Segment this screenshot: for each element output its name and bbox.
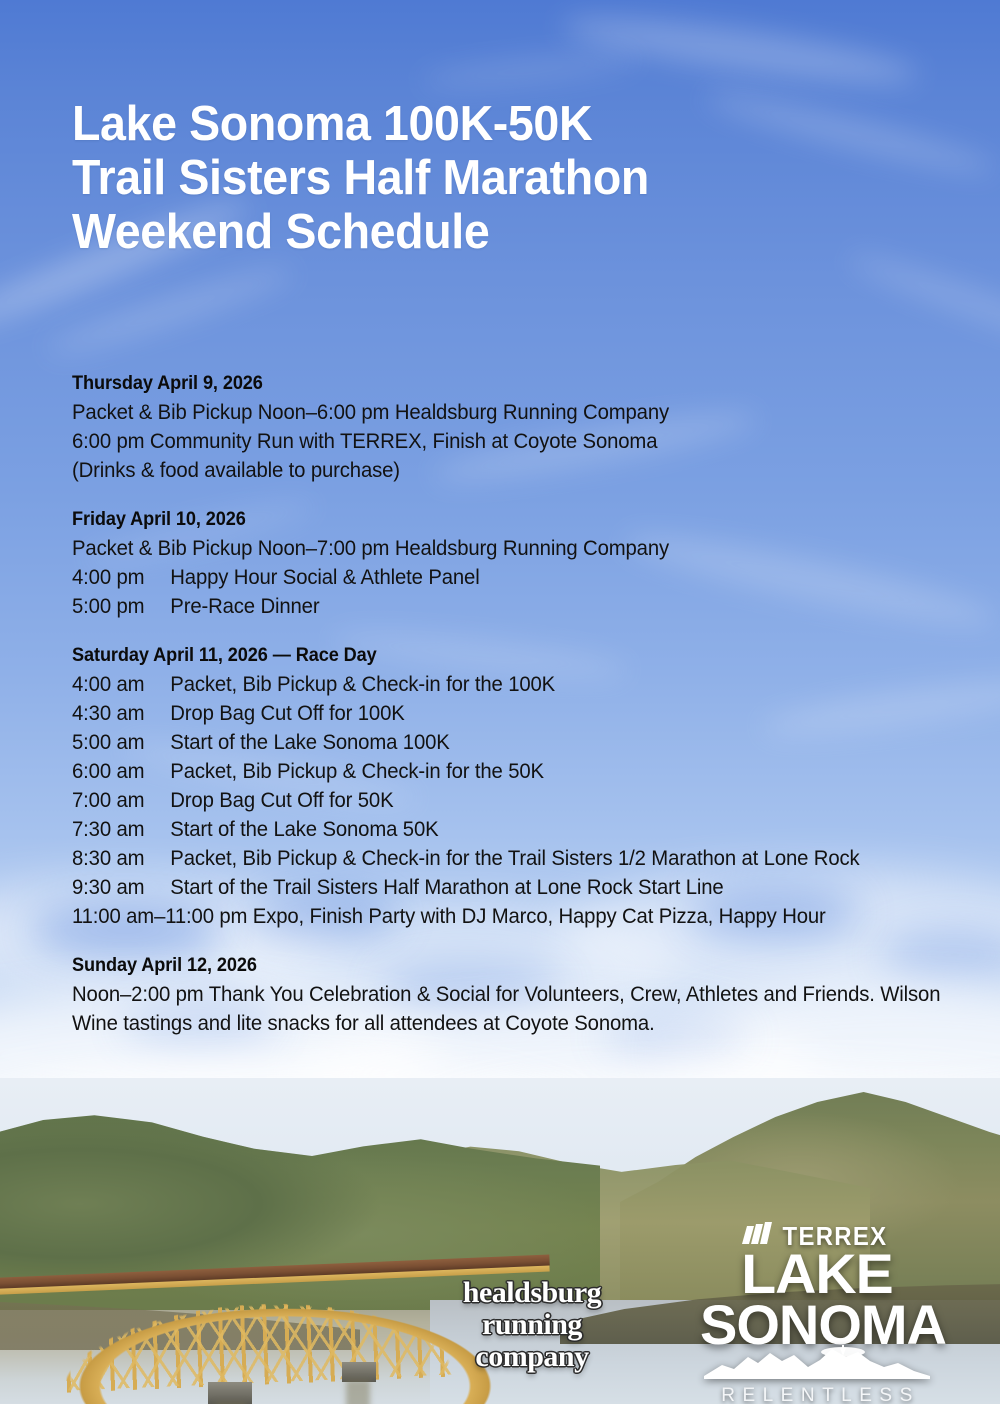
schedule-line-time: 4:00 am <box>72 670 170 699</box>
schedule-line-desc: Start of the Lake Sonoma 100K <box>170 728 449 757</box>
schedule-line-time: 6:00 am <box>72 757 170 786</box>
schedule-line-desc: Pre-Race Dinner <box>170 592 319 621</box>
schedule-line: 9:30 amStart of the Trail Sisters Half M… <box>72 873 951 902</box>
schedule-line-time: 5:00 am <box>72 728 170 757</box>
schedule-line-desc: Noon–2:00 pm Thank You Celebration & Soc… <box>72 980 951 1038</box>
relentless-tagline: RELENTLESS <box>700 1385 934 1404</box>
hrc-logo-line2: running <box>448 1309 616 1341</box>
schedule-line-desc: Drop Bag Cut Off for 100K <box>170 699 404 728</box>
day-heading: Thursday April 9, 2026 <box>72 371 937 396</box>
day-heading: Friday April 10, 2026 <box>72 507 937 532</box>
schedule-line: 11:00 am–11:00 pm Expo, Finish Party wit… <box>72 902 951 931</box>
schedule-line-desc: 11:00 am–11:00 pm Expo, Finish Party wit… <box>72 902 826 931</box>
schedule-line-time: 4:00 pm <box>72 563 170 592</box>
hrc-logo-line3: company <box>448 1341 616 1373</box>
schedule-line-time: 7:30 am <box>72 815 170 844</box>
lake-wordmark: LAKE <box>698 1250 937 1298</box>
schedule-day-friday: Friday April 10, 2026 Packet & Bib Picku… <box>72 507 1000 621</box>
mountain-silhouette-icon <box>700 1343 934 1384</box>
schedule-line-desc: 6:00 pm Community Run with TERREX, Finis… <box>72 427 657 456</box>
sonoma-wordmark: SONOMA <box>700 1301 934 1349</box>
schedule-line: 6:00 amPacket, Bib Pickup & Check-in for… <box>72 757 951 786</box>
schedule-day-thursday: Thursday April 9, 2026 Packet & Bib Pick… <box>72 371 1000 485</box>
schedule-line: 6:00 pm Community Run with TERREX, Finis… <box>72 427 951 456</box>
event-poster: Lake Sonoma 100K-50K Trail Sisters Half … <box>0 0 1000 1404</box>
schedule-line-desc: Start of the Lake Sonoma 50K <box>170 815 438 844</box>
schedule-line: Packet & Bib Pickup Noon–7:00 pm Healdsb… <box>72 534 951 563</box>
schedule-line: 4:00 pmHappy Hour Social & Athlete Panel <box>72 563 951 592</box>
schedule-line-desc: Packet, Bib Pickup & Check-in for the 10… <box>170 670 555 699</box>
weekend-schedule: Thursday April 9, 2026 Packet & Bib Pick… <box>72 371 1000 1038</box>
schedule-line: 4:00 amPacket, Bib Pickup & Check-in for… <box>72 670 951 699</box>
healdsburg-running-company-logo: healdsburg running company <box>448 1277 616 1373</box>
schedule-line: 8:30 amPacket, Bib Pickup & Check-in for… <box>72 844 951 873</box>
schedule-line-desc: Drop Bag Cut Off for 50K <box>170 786 393 815</box>
day-heading: Saturday April 11, 2026 — Race Day <box>72 643 937 668</box>
schedule-line: 7:30 amStart of the Lake Sonoma 50K <box>72 815 951 844</box>
schedule-line-desc: Packet & Bib Pickup Noon–6:00 pm Healdsb… <box>72 398 669 427</box>
hrc-logo-line1: healdsburg <box>448 1277 616 1309</box>
schedule-day-sunday: Sunday April 12, 2026 Noon–2:00 pm Thank… <box>72 953 1000 1038</box>
schedule-line-desc: Packet, Bib Pickup & Check-in for the 50… <box>170 757 544 786</box>
schedule-line-time: 7:00 am <box>72 786 170 815</box>
schedule-line-desc: Packet, Bib Pickup & Check-in for the Tr… <box>170 844 859 873</box>
schedule-line: (Drinks & food available to purchase) <box>72 456 951 485</box>
schedule-line: Packet & Bib Pickup Noon–6:00 pm Healdsb… <box>72 398 951 427</box>
schedule-line: 5:00 amStart of the Lake Sonoma 100K <box>72 728 951 757</box>
schedule-line-desc: (Drinks & food available to purchase) <box>72 456 400 485</box>
schedule-day-saturday: Saturday April 11, 2026 — Race Day 4:00 … <box>72 643 1000 931</box>
schedule-line-time: 8:30 am <box>72 844 170 873</box>
schedule-line: 5:00 pmPre-Race Dinner <box>72 592 951 621</box>
schedule-line-time: 4:30 am <box>72 699 170 728</box>
day-heading: Sunday April 12, 2026 <box>72 953 937 978</box>
schedule-line: 7:00 amDrop Bag Cut Off for 50K <box>72 786 951 815</box>
schedule-line: Noon–2:00 pm Thank You Celebration & Soc… <box>72 980 951 1038</box>
schedule-line-time: 5:00 pm <box>72 592 170 621</box>
schedule-line-desc: Happy Hour Social & Athlete Panel <box>170 563 479 592</box>
schedule-line-desc: Start of the Trail Sisters Half Marathon… <box>170 873 723 902</box>
page-title: Lake Sonoma 100K-50K Trail Sisters Half … <box>72 97 649 259</box>
schedule-line-desc: Packet & Bib Pickup Noon–7:00 pm Healdsb… <box>72 534 669 563</box>
schedule-line-time: 9:30 am <box>72 873 170 902</box>
terrex-lake-sonoma-logo: TERREX LAKE SONOMA RELENTLESS <box>700 1222 934 1404</box>
schedule-line: 4:30 amDrop Bag Cut Off for 100K <box>72 699 951 728</box>
